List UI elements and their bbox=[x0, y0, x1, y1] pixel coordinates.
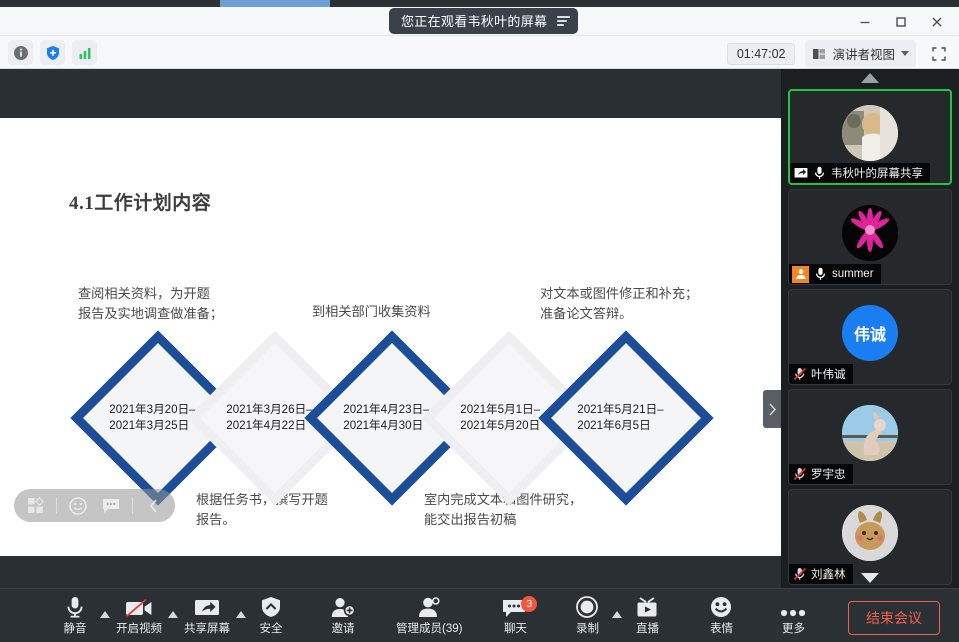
strip-segment-right bbox=[330, 0, 959, 7]
title-bar: 您正在观看韦秋叶的屏幕 bbox=[0, 7, 959, 36]
chat-button[interactable]: 3 聊天 bbox=[492, 589, 538, 642]
participant-name: summer bbox=[832, 268, 874, 280]
control-label: 邀请 bbox=[332, 620, 355, 636]
participant-tile[interactable]: 伟诚 叶伟诚 bbox=[788, 289, 952, 385]
host-badge-icon bbox=[792, 266, 809, 283]
participant-name-chip: 韦秋叶的屏幕共享 bbox=[790, 163, 930, 183]
avatar bbox=[842, 505, 898, 561]
more-button[interactable]: 更多 bbox=[770, 589, 816, 642]
share-screen-button[interactable]: 共享屏幕 bbox=[180, 589, 234, 642]
participant-name-chip: 罗宇忠 bbox=[789, 464, 853, 484]
maximize-icon[interactable] bbox=[883, 7, 919, 36]
caret-up-icon bbox=[612, 611, 622, 618]
shared-screen-stage[interactable]: 4.1工作计划内容 查阅相关资料，为开题 报告及实地调查做准备； 到相关部门收集… bbox=[0, 69, 781, 588]
more-dots-icon bbox=[780, 596, 806, 618]
control-label: 更多 bbox=[782, 620, 805, 636]
meeting-toolbar: 01:47:02 演讲者视图 bbox=[0, 36, 959, 69]
invite-icon bbox=[331, 596, 355, 618]
invite-button[interactable]: 邀请 bbox=[320, 589, 366, 642]
slide-mini-toolbar[interactable] bbox=[14, 489, 175, 522]
milestone-label: 2021年5月21日–2021年6月5日 bbox=[573, 402, 679, 433]
view-mode-label: 演讲者视图 bbox=[832, 44, 895, 63]
control-label: 安全 bbox=[260, 620, 283, 636]
record-button[interactable]: 录制 bbox=[564, 589, 610, 642]
avatar bbox=[842, 205, 898, 261]
control-label: 管理成员(39) bbox=[396, 620, 462, 636]
emoji-face-icon bbox=[710, 596, 732, 618]
video-off-icon bbox=[125, 596, 153, 618]
milestone-diamond: 2021年5月21日–2021年6月5日 bbox=[538, 330, 713, 505]
control-label: 共享屏幕 bbox=[184, 620, 230, 636]
microphone-icon bbox=[812, 166, 827, 181]
scroll-up-arrow-icon bbox=[861, 73, 879, 83]
menu-icon[interactable] bbox=[557, 16, 570, 26]
record-icon bbox=[576, 596, 598, 618]
start-video-button[interactable]: 开启视频 bbox=[112, 589, 166, 642]
strip-segment-highlight bbox=[220, 0, 330, 7]
shapes-icon[interactable] bbox=[23, 494, 47, 518]
chat-unread-badge: 3 bbox=[521, 596, 537, 612]
participant-name: 叶伟诚 bbox=[811, 366, 846, 382]
close-icon[interactable] bbox=[919, 7, 955, 36]
participant-name-chip: summer bbox=[789, 264, 881, 284]
shield-icon[interactable] bbox=[40, 40, 65, 65]
screen-share-notice[interactable]: 您正在观看韦秋叶的屏幕 bbox=[389, 8, 578, 34]
caret-up-icon bbox=[100, 611, 110, 618]
desktop-background-strip bbox=[0, 0, 959, 7]
end-meeting-button[interactable]: 结束会议 bbox=[848, 601, 940, 635]
microphone-icon bbox=[813, 267, 828, 282]
control-label: 录制 bbox=[576, 620, 599, 636]
mute-options-caret[interactable] bbox=[100, 589, 110, 642]
avatar bbox=[842, 405, 898, 461]
participant-tile[interactable]: summer bbox=[788, 189, 952, 285]
speaker-view-icon bbox=[812, 47, 826, 61]
microphone-muted-icon bbox=[792, 467, 807, 482]
video-options-caret[interactable] bbox=[168, 589, 178, 642]
zoom-meeting-window: 您正在观看韦秋叶的屏幕 bbox=[0, 0, 959, 642]
rail-collapse-toggle[interactable] bbox=[763, 390, 781, 428]
fullscreen-icon[interactable] bbox=[926, 41, 951, 66]
chat-icon[interactable] bbox=[99, 494, 123, 518]
divider bbox=[132, 498, 133, 514]
control-label: 表情 bbox=[710, 620, 733, 636]
control-label: 直播 bbox=[636, 620, 659, 636]
security-icon bbox=[261, 596, 281, 618]
share-options-caret[interactable] bbox=[236, 589, 246, 642]
toolbar-right-controls: 01:47:02 演讲者视图 bbox=[727, 40, 951, 67]
participant-tiles: 韦秋叶的屏幕共享 bbox=[781, 89, 959, 585]
microphone-icon bbox=[65, 596, 85, 618]
avatar-initials: 伟诚 bbox=[854, 321, 886, 345]
collapse-left-icon[interactable] bbox=[142, 494, 166, 518]
record-options-caret[interactable] bbox=[612, 589, 622, 642]
window-controls bbox=[847, 7, 955, 36]
avatar: 伟诚 bbox=[842, 305, 898, 361]
caret-up-icon bbox=[168, 611, 178, 618]
strip-segment-left bbox=[0, 0, 220, 7]
meeting-control-bar: 静音 开启视频 共享屏幕 安全 bbox=[0, 588, 959, 642]
control-label: 聊天 bbox=[504, 620, 527, 636]
avatar bbox=[842, 105, 898, 161]
scroll-down-arrow-icon bbox=[861, 573, 879, 583]
control-label: 静音 bbox=[64, 620, 87, 636]
chevron-right-icon bbox=[768, 403, 777, 416]
microphone-muted-icon bbox=[792, 367, 807, 382]
manage-members-icon bbox=[417, 596, 441, 618]
share-screen-icon bbox=[194, 596, 220, 618]
divider bbox=[56, 498, 57, 514]
rail-scroll-down-button[interactable] bbox=[781, 570, 959, 586]
chevron-down-icon bbox=[901, 51, 909, 56]
mute-button[interactable]: 静音 bbox=[52, 589, 98, 642]
caret-up-icon bbox=[236, 611, 246, 618]
minimize-icon[interactable] bbox=[847, 7, 883, 36]
control-label: 开启视频 bbox=[116, 620, 162, 636]
participant-tile[interactable]: 韦秋叶的屏幕共享 bbox=[788, 89, 952, 185]
participant-name: 罗宇忠 bbox=[811, 466, 846, 482]
screen-share-icon bbox=[793, 166, 808, 181]
participant-name: 韦秋叶的屏幕共享 bbox=[831, 165, 923, 181]
rail-scroll-up-button[interactable] bbox=[781, 70, 959, 86]
manage-members-button[interactable]: 管理成员(39) bbox=[392, 589, 466, 642]
screen-share-notice-label: 您正在观看韦秋叶的屏幕 bbox=[401, 15, 547, 28]
signal-bars-icon[interactable] bbox=[72, 40, 97, 65]
emoji-button[interactable]: 表情 bbox=[698, 589, 744, 642]
participant-tile[interactable]: 罗宇忠 bbox=[788, 389, 952, 485]
live-icon bbox=[636, 596, 658, 618]
participant-name-chip: 叶伟诚 bbox=[789, 364, 853, 384]
toolbar-left-icons bbox=[8, 40, 97, 65]
emoji-icon[interactable] bbox=[66, 494, 90, 518]
info-icon[interactable] bbox=[8, 40, 33, 65]
security-button[interactable]: 安全 bbox=[248, 589, 294, 642]
view-mode-dropdown[interactable]: 演讲者视图 bbox=[805, 40, 916, 67]
meeting-timer: 01:47:02 bbox=[727, 43, 796, 65]
participant-rail: 韦秋叶的屏幕共享 bbox=[781, 69, 959, 588]
live-button[interactable]: 直播 bbox=[624, 589, 670, 642]
